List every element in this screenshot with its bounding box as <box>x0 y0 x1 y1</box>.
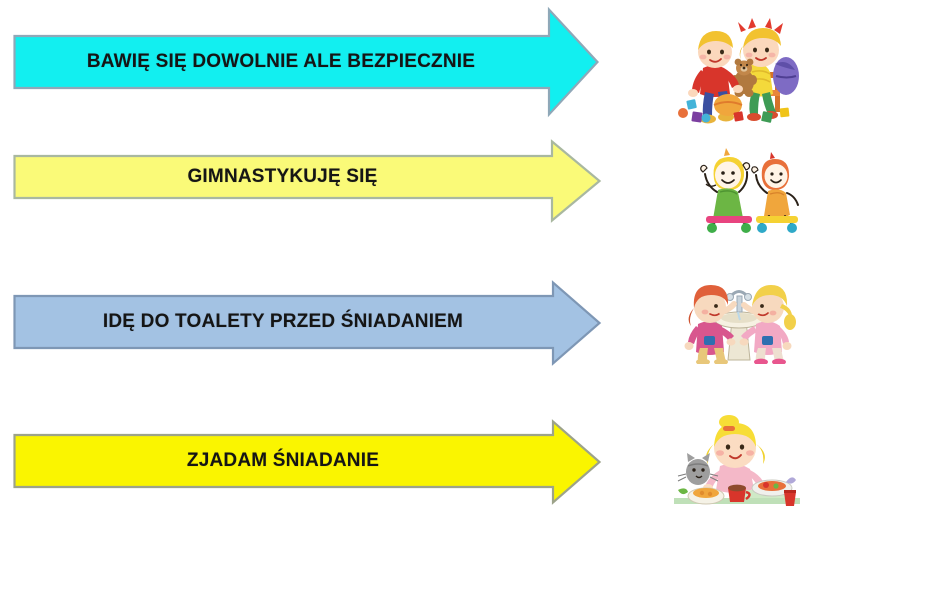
illustration-children-at-washbasin <box>676 272 802 364</box>
arrow-right-icon <box>13 420 601 504</box>
schedule-row-1: BAWIĘ SIĘ DOWOLNIE ALE BEZPIECZNIE <box>0 0 940 140</box>
illustration-girl-eating-breakfast <box>672 414 802 514</box>
illustration-children-exercising-jumping <box>684 146 802 242</box>
arrow-banner-4[interactable]: ZJADAM ŚNIADANIE <box>13 420 601 504</box>
arrow-right-icon <box>13 140 601 222</box>
arrow-right-icon <box>13 8 599 116</box>
illustration-children-playing-with-toys <box>676 16 804 128</box>
arrow-banner-2[interactable]: GIMNASTYKUJĘ SIĘ <box>13 140 601 222</box>
schedule-row-2: GIMNASTYKUJĘ SIĘ <box>0 140 940 280</box>
schedule-row-4: ZJADAM ŚNIADANIE <box>0 420 940 560</box>
arrow-banner-3[interactable]: IDĘ DO TOALETY PRZED ŚNIADANIEM <box>13 281 601 365</box>
schedule-row-3: IDĘ DO TOALETY PRZED ŚNIADANIEM <box>0 281 940 421</box>
schedule-board: BAWIĘ SIĘ DOWOLNIE ALE BEZPIECZNIE <box>0 0 940 597</box>
arrow-right-icon <box>13 281 601 365</box>
arrow-banner-1[interactable]: BAWIĘ SIĘ DOWOLNIE ALE BEZPIECZNIE <box>13 8 599 116</box>
